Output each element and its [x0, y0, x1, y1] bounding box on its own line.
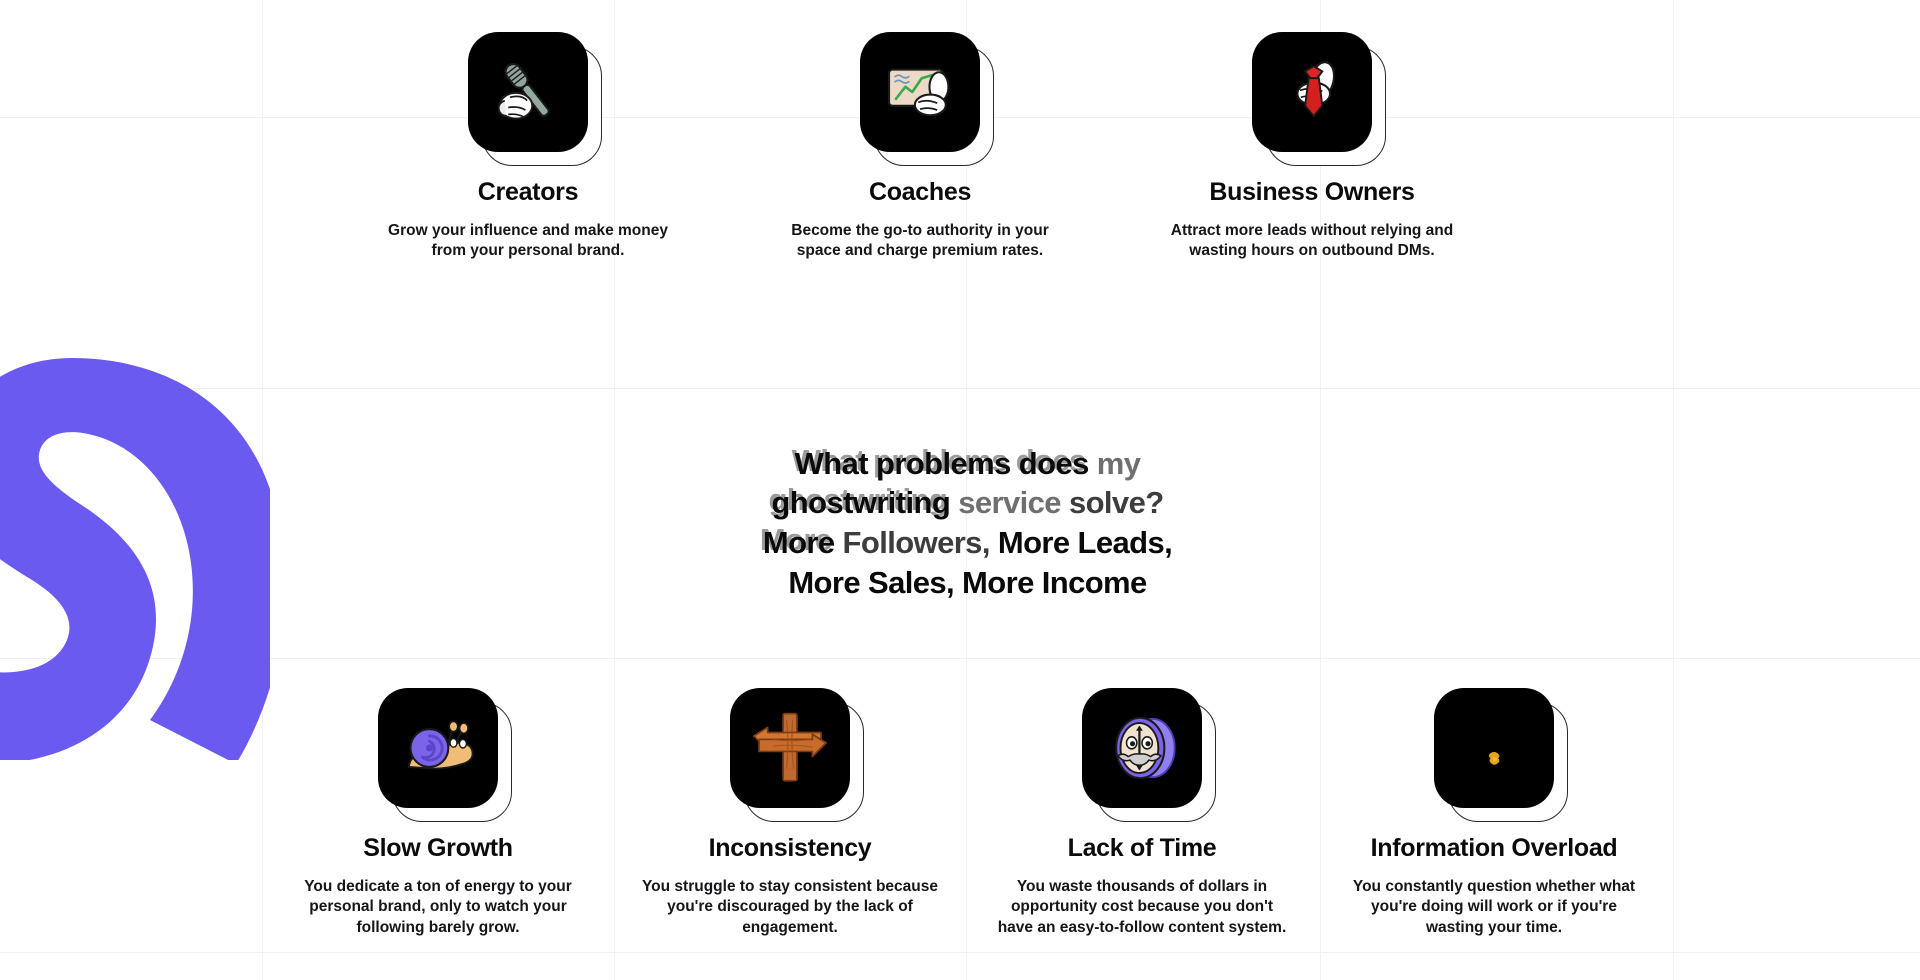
- tile-front-plate: [378, 688, 498, 808]
- problem-card-title: Slow Growth: [363, 834, 512, 863]
- problem-card-description: You waste thousands of dollars in opport…: [992, 877, 1292, 938]
- problem-card-information-overload[interactable]: Information Overload You constantly ques…: [1318, 658, 1670, 980]
- page-root: Creators Grow your influence and make mo…: [0, 0, 1920, 980]
- heading-word: More: [962, 563, 1034, 603]
- tile-front-plate: [730, 688, 850, 808]
- heading-word: More: [998, 523, 1070, 563]
- heading-word: More: [763, 523, 835, 563]
- audience-card-creators[interactable]: Creators Grow your influence and make mo…: [352, 0, 704, 388]
- audience-card-description: Attract more leads without relying and w…: [1162, 221, 1462, 262]
- snail-icon: [378, 688, 498, 808]
- problem-card-inconsistency[interactable]: Inconsistency You struggle to stay consi…: [614, 658, 966, 980]
- audience-card-description: Become the go-to authority in your space…: [770, 221, 1070, 262]
- heading-word: More: [788, 563, 860, 603]
- audience-card-title: Creators: [478, 178, 578, 207]
- audience-card-row: Creators Grow your influence and make mo…: [262, 0, 1673, 388]
- tile-front-plate: [1434, 688, 1554, 808]
- heading-word: What: [795, 444, 868, 484]
- exploding-head-icon: [1434, 688, 1554, 808]
- audience-card-title: Coaches: [869, 178, 971, 207]
- problem-card-row: Slow Growth You dedicate a ton of energy…: [262, 658, 1673, 980]
- audience-card-coaches[interactable]: Coaches Become the go-to authority in yo…: [744, 0, 1096, 388]
- mid-heading-section: What problems does my ghostwriting servi…: [262, 388, 1673, 658]
- problem-card-description: You constantly question whether what you…: [1344, 877, 1644, 938]
- mantelpiece-clock-icon: [1082, 688, 1202, 808]
- heading-word: problems: [876, 444, 1011, 484]
- wooden-signpost-icon: [730, 688, 850, 808]
- heading-word: Sales,: [868, 563, 954, 603]
- problem-card-title: Information Overload: [1371, 834, 1618, 863]
- heading-word: ghostwriting: [771, 483, 950, 523]
- chart-presentation-hand-icon: [860, 32, 980, 152]
- heading-word: Followers,: [843, 523, 990, 563]
- heading-word: solve?: [1069, 483, 1164, 523]
- tile-front-plate: [468, 32, 588, 152]
- problem-card-description: You dedicate a ton of energy to your per…: [288, 877, 588, 938]
- necktie-hand-icon: [1252, 32, 1372, 152]
- audience-card-business-owners[interactable]: Business Owners Attract more leads witho…: [1136, 0, 1488, 388]
- heading-word: does: [1019, 444, 1089, 484]
- tile-front-plate: [1082, 688, 1202, 808]
- heading-word: service: [958, 483, 1061, 523]
- problem-card-lack-of-time[interactable]: Lack of Time You waste thousands of doll…: [966, 658, 1318, 980]
- problem-card-slow-growth[interactable]: Slow Growth You dedicate a ton of energy…: [262, 658, 614, 980]
- heading-word: Leads,: [1078, 523, 1173, 563]
- tile-front-plate: [1252, 32, 1372, 152]
- audience-card-title: Business Owners: [1209, 178, 1414, 207]
- heading-word: Income: [1042, 563, 1147, 603]
- page-title: What problems does my ghostwriting servi…: [753, 444, 1183, 603]
- microphone-hand-icon: [468, 32, 588, 152]
- problem-card-description: You struggle to stay consistent because …: [640, 877, 940, 938]
- problem-card-title: Lack of Time: [1068, 834, 1217, 863]
- heading-word: my: [1097, 444, 1141, 484]
- audience-card-description: Grow your influence and make money from …: [378, 221, 678, 262]
- problem-card-title: Inconsistency: [709, 834, 872, 863]
- tile-front-plate: [860, 32, 980, 152]
